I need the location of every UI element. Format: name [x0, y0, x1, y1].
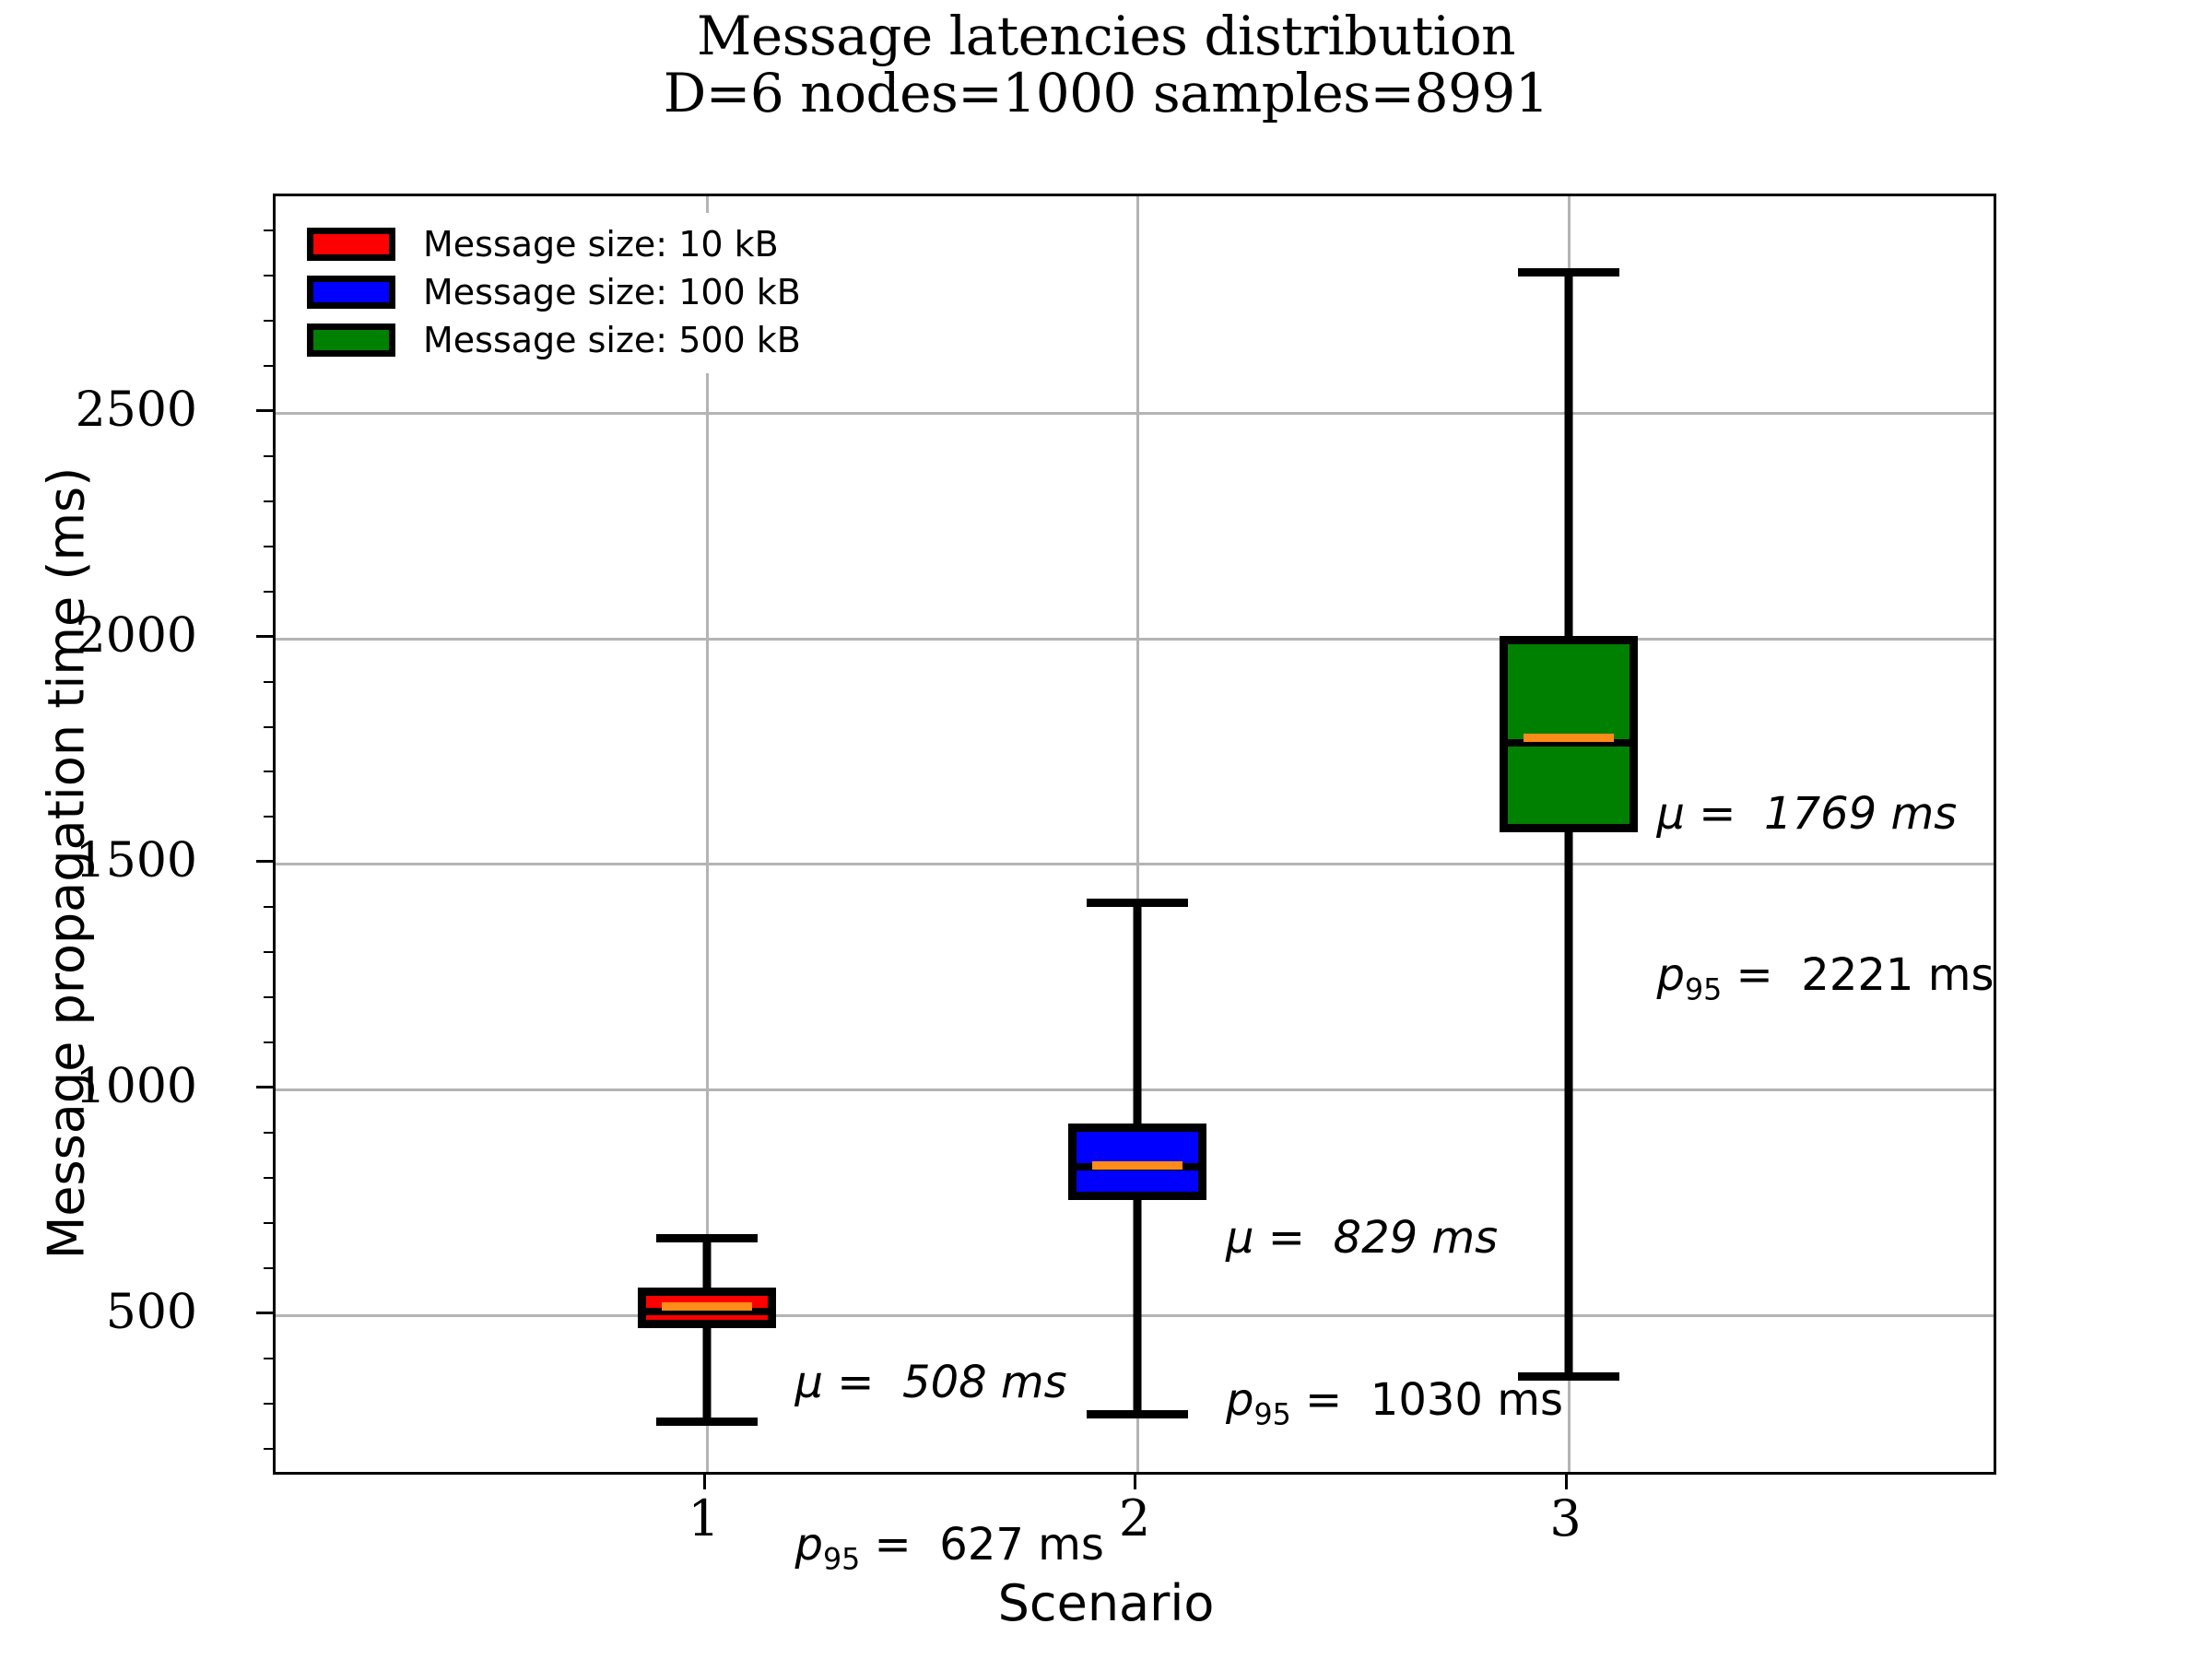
y-axis-tick-label: 2500 [76, 382, 197, 438]
y-axis-minor-tick [264, 500, 273, 502]
p95-symbol: p [1226, 1374, 1253, 1426]
boxplot-cap-upper [1087, 899, 1188, 907]
y-axis-minor-tick [264, 591, 273, 593]
boxplot-median-line [662, 1302, 752, 1311]
annotation-mean-3: μ = 1769 ms [1657, 787, 1994, 841]
y-axis-tick-label: 1500 [76, 833, 197, 888]
y-axis-minor-tick [264, 275, 273, 276]
y-axis-minor-tick [264, 996, 273, 998]
annotation-scenario-2: μ = 829 ms p95 = 1030 ms [1226, 1103, 1563, 1541]
y-axis-minor-tick [264, 455, 273, 457]
y-axis-tick-mark [256, 635, 273, 638]
p95-symbol: p [795, 1519, 823, 1571]
y-axis-minor-tick [264, 1403, 273, 1405]
annotation-mean-1: μ = 508 ms [795, 1356, 1104, 1410]
y-axis-tick-mark [256, 1086, 273, 1088]
y-axis-tick-mark [256, 1312, 273, 1314]
boxplot-cap-upper [656, 1234, 758, 1242]
p95-value-1: = 627 ms [860, 1519, 1104, 1571]
y-axis-tick-label: 500 [106, 1285, 197, 1340]
legend-swatch-10kb [307, 228, 395, 261]
chart-title-subtitle: D=6 nodes=1000 samples=8991 [0, 65, 2212, 122]
y-axis-minor-tick [264, 951, 273, 953]
y-axis-minor-tick [264, 546, 273, 547]
x-axis-tick-mark [1134, 1475, 1136, 1489]
gridline-horizontal [276, 638, 1994, 641]
p95-value-3: = 2221 ms [1722, 949, 1994, 1001]
y-axis-tick-mark [256, 409, 273, 412]
y-axis-minor-tick [264, 1448, 273, 1450]
y-axis-minor-tick [264, 1041, 273, 1043]
y-axis-minor-tick [264, 771, 273, 772]
x-axis-tick-mark [1565, 1475, 1568, 1489]
boxplot-median-line [1524, 734, 1614, 742]
annotation-scenario-1: μ = 508 ms p95 = 627 ms [795, 1248, 1104, 1659]
legend-swatch-500kb [307, 324, 395, 357]
y-axis-minor-tick [264, 1132, 273, 1134]
p95-subscript: 95 [1685, 974, 1722, 1007]
y-axis-tick-label: 1000 [76, 1059, 197, 1114]
annotation-p95-3: p95 = 2221 ms [1657, 948, 1994, 1008]
y-axis-minor-tick [264, 365, 273, 367]
annotation-mean-2: μ = 829 ms [1226, 1211, 1563, 1265]
legend-label-10kb: Message size: 10 kB [423, 224, 779, 265]
y-axis-minor-tick [264, 1358, 273, 1359]
annotation-p95-1: p95 = 627 ms [795, 1518, 1104, 1578]
y-axis-minor-tick [264, 906, 273, 908]
x-axis-label: Scenario [0, 1574, 2212, 1632]
y-axis-minor-tick [264, 681, 273, 683]
legend-label-100kb: Message size: 100 kB [423, 272, 801, 312]
x-axis-tick-label: 3 [1511, 1489, 1621, 1547]
p95-subscript: 95 [823, 1543, 860, 1576]
y-axis-minor-tick [264, 726, 273, 728]
boxplot-cap-lower [656, 1418, 758, 1426]
x-axis-tick-label: 2 [1079, 1489, 1190, 1547]
boxplot-whisker [702, 1238, 711, 1421]
legend-swatch-100kb [307, 276, 395, 309]
p95-symbol: p [1657, 949, 1685, 1001]
legend-item[interactable]: Message size: 500 kB [307, 316, 801, 364]
chart-title-line-1: Message latencies distribution [0, 7, 2212, 65]
y-axis-minor-tick [264, 816, 273, 818]
y-axis-tick-mark [256, 860, 273, 863]
x-axis-tick-label: 1 [649, 1489, 759, 1547]
boxplot-cap-upper [1518, 268, 1619, 276]
p95-value-2: = 1030 ms [1291, 1374, 1563, 1426]
annotation-scenario-3: μ = 1769 ms p95 = 2221 ms [1657, 679, 1994, 1117]
y-axis-minor-tick [264, 229, 273, 231]
legend-item[interactable]: Message size: 100 kB [307, 268, 801, 316]
y-axis-minor-tick [264, 1222, 273, 1224]
legend: Message size: 10 kB Message size: 100 kB… [298, 213, 814, 373]
gridline-horizontal [276, 412, 1994, 415]
chart-page: Message latencies distribution D=6 nodes… [0, 0, 2212, 1659]
legend-item[interactable]: Message size: 10 kB [307, 220, 801, 268]
y-axis-tick-label: 2000 [76, 608, 197, 664]
y-axis-minor-tick [264, 320, 273, 322]
annotation-p95-2: p95 = 1030 ms [1226, 1373, 1563, 1433]
p95-subscript: 95 [1253, 1398, 1290, 1431]
legend-label-500kb: Message size: 500 kB [423, 320, 801, 360]
boxplot-median-line [1092, 1161, 1182, 1170]
y-axis-minor-tick [264, 1267, 273, 1269]
chart-title: Message latencies distribution D=6 nodes… [0, 7, 2212, 122]
y-axis-minor-tick [264, 1177, 273, 1179]
x-axis-tick-mark [703, 1475, 706, 1489]
